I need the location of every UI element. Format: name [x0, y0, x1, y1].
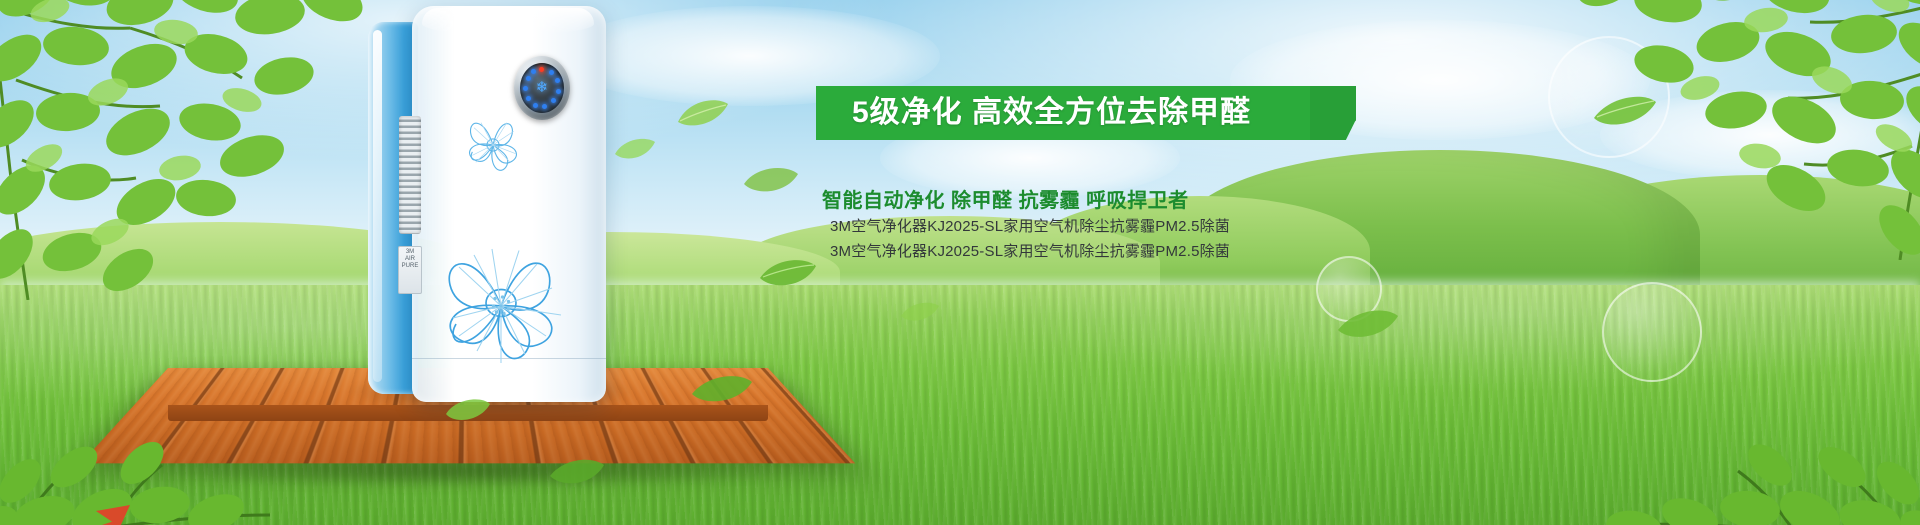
led-indicator-7: [526, 96, 531, 101]
led-indicator-3: [556, 89, 561, 94]
purifier-top-sheen: [422, 8, 594, 34]
purifier-control-dial[interactable]: ❄: [514, 56, 570, 120]
subtitle-text: 智能自动净化 除甲醛 抗雾霾 呼吸捍卫者: [822, 184, 1189, 213]
headline-banner: 5级净化 高效全方位去除甲醛: [816, 86, 1356, 140]
headline-text: 5级净化 高效全方位去除甲醛: [852, 86, 1251, 140]
headline-banner-corner: [1310, 86, 1356, 140]
product-description-line-1: 3M空气净化器KJ2025-SL家用空气机除尘抗雾霾PM2.5除菌: [830, 215, 1230, 236]
purifier-front-panel: [412, 6, 606, 402]
led-indicator-2: [555, 78, 560, 83]
bokeh-circle-1: [1548, 36, 1670, 158]
purifier-side-highlight: [373, 30, 382, 382]
led-indicator-8: [523, 86, 528, 91]
led-indicator-10: [531, 69, 536, 74]
led-indicator-alert: [539, 67, 544, 72]
purifier-air-vent: [399, 116, 421, 234]
promo-banner: 3M AIR PURE: [0, 0, 1920, 525]
snowflake-icon: ❄: [534, 80, 550, 96]
dial-display: ❄: [520, 63, 564, 113]
led-indicator-9: [526, 76, 531, 81]
led-indicator-5: [542, 104, 547, 109]
bokeh-circle-2: [1602, 282, 1702, 382]
led-indicator-6: [533, 103, 538, 108]
product-description-line-2: 3M空气净化器KJ2025-SL家用空气机除尘抗雾霾PM2.5除菌: [830, 240, 1230, 261]
bokeh-circle-3: [1316, 256, 1382, 322]
led-indicator-4: [551, 98, 556, 103]
led-indicator-1: [549, 70, 554, 75]
purifier-spec-label: 3M AIR PURE: [398, 246, 422, 294]
air-purifier: 3M AIR PURE: [368, 6, 606, 404]
purifier-base-seam: [412, 358, 606, 359]
